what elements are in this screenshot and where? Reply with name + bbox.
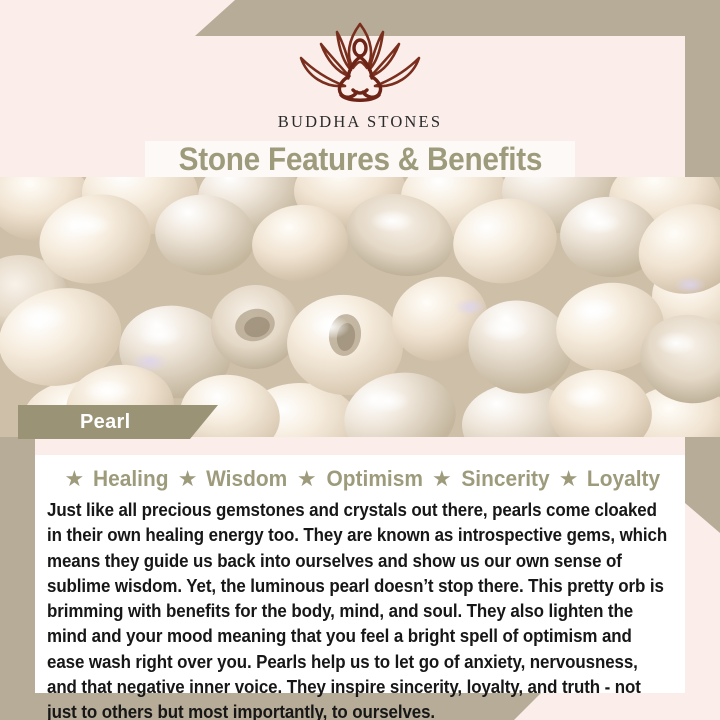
stone-name-text: Pearl [18,411,130,434]
star-icon: ★ [559,468,579,490]
star-icon: ★ [432,468,452,490]
lotus-meditating-figure-icon [285,18,435,110]
star-icon: ★ [178,468,198,490]
star-icon: ★ [65,468,85,490]
brand-name: BUDDHA STONES [278,112,442,132]
page-title: Stone Features & Benefits [178,141,541,178]
title-banner: Stone Features & Benefits [145,141,575,178]
pearl-photo [0,177,720,437]
benefit-label: Loyalty [587,466,660,492]
description-text: Just like all precious gemstones and cry… [47,497,669,720]
benefit-label: Healing [93,466,168,492]
infographic-page: BUDDHA STONES Stone Features & Benefits [0,0,720,720]
benefit-item-healing: ★ Healing [58,466,171,492]
star-icon: ★ [297,468,317,490]
decorative-bar-left [0,405,35,720]
benefit-item-wisdom: ★ Wisdom [171,466,290,492]
brand-logo [285,18,435,110]
benefit-item-optimism: ★ Optimism [290,466,425,492]
benefit-label: Wisdom [207,466,288,492]
benefits-card: ★ Healing ★ Wisdom ★ Optimism ★ Sincerit… [35,455,685,693]
benefit-label: Sincerity [461,466,549,492]
benefit-label: Optimism [326,466,422,492]
page-header: BUDDHA STONES Stone Features & Benefits [0,0,720,177]
stone-name-label: Pearl [18,405,218,439]
benefit-keyword-row: ★ Healing ★ Wisdom ★ Optimism ★ Sincerit… [47,464,673,494]
benefit-item-sincerity: ★ Sincerity [425,466,552,492]
benefit-item-loyalty: ★ Loyalty [552,466,663,492]
